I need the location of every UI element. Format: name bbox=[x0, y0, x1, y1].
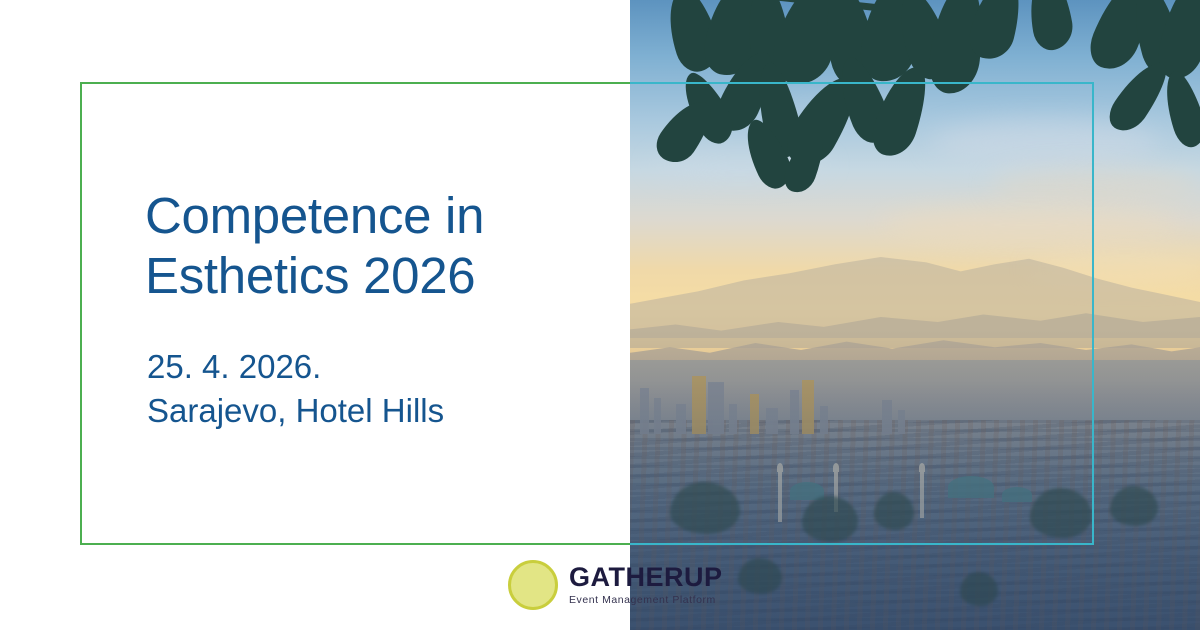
tree-foliage bbox=[630, 0, 1200, 200]
text-panel: Competence in Esthetics 2026 25. 4. 2026… bbox=[0, 0, 630, 630]
sarajevo-photo bbox=[630, 0, 1200, 630]
gatherup-logo[interactable]: GATHERUP Event Management Platform bbox=[508, 560, 723, 610]
event-details: 25. 4. 2026. Sarajevo, Hotel Hills bbox=[147, 345, 617, 432]
cloud bbox=[880, 205, 1180, 245]
logo-tagline: Event Management Platform bbox=[569, 595, 723, 606]
logo-text: GATHERUP Event Management Platform bbox=[569, 564, 723, 606]
event-banner: Competence in Esthetics 2026 25. 4. 2026… bbox=[0, 0, 1200, 630]
page-title: Competence in Esthetics 2026 bbox=[145, 186, 615, 306]
logo-wordmark: GATHERUP bbox=[569, 564, 723, 591]
circle-logo-icon bbox=[508, 560, 558, 610]
leaf bbox=[1024, 0, 1077, 53]
